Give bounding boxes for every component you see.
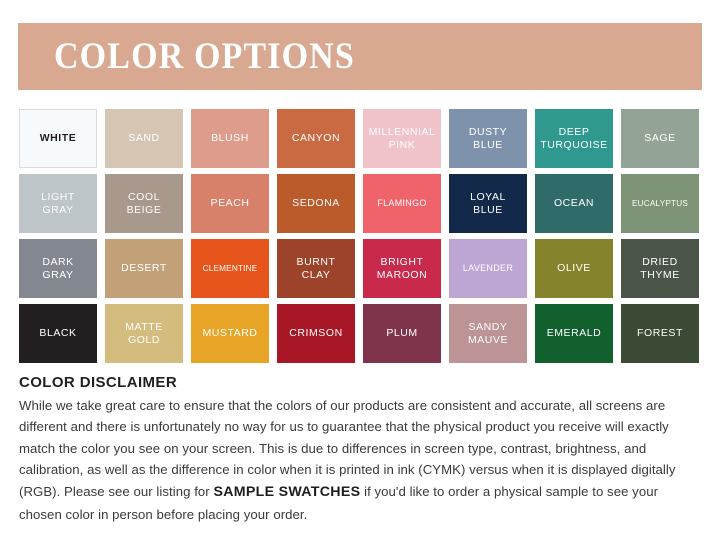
swatch-label: LIGHT GRAY: [38, 191, 78, 216]
swatch-label: FLAMINGO: [374, 198, 429, 209]
color-swatch[interactable]: COOL BEIGE: [105, 174, 183, 233]
color-swatch[interactable]: DESERT: [105, 239, 183, 298]
sample-swatches-emphasis: SAMPLE SWATCHES: [213, 484, 360, 500]
swatch-label: BLUSH: [208, 132, 252, 144]
color-swatch[interactable]: PEACH: [191, 174, 269, 233]
swatch-label: EUCALYPTUS: [629, 199, 691, 209]
color-swatch[interactable]: WHITE: [19, 109, 97, 168]
swatch-label: COOL BEIGE: [124, 191, 165, 216]
swatch-label: OLIVE: [554, 262, 594, 274]
swatch-label: DRIED THYME: [637, 256, 683, 281]
color-swatch[interactable]: BLUSH: [191, 109, 269, 168]
color-swatch[interactable]: EMERALD: [535, 304, 613, 363]
swatch-label: PLUM: [383, 327, 420, 339]
swatch-label: EMERALD: [544, 327, 605, 339]
swatch-label: MATTE GOLD: [122, 321, 166, 346]
color-swatch[interactable]: EUCALYPTUS: [621, 174, 699, 233]
swatch-label: OCEAN: [551, 197, 597, 209]
color-swatch[interactable]: BURNT CLAY: [277, 239, 355, 298]
swatch-label: BLACK: [36, 327, 79, 339]
swatch-label: BURNT CLAY: [294, 256, 339, 281]
color-swatch[interactable]: CLEMENTINE: [191, 239, 269, 298]
swatch-label: CANYON: [289, 132, 343, 144]
color-swatch[interactable]: LOYAL BLUE: [449, 174, 527, 233]
color-swatch[interactable]: BLACK: [19, 304, 97, 363]
color-disclaimer-section: COLOR DISCLAIMER While we take great car…: [19, 374, 703, 525]
color-swatch[interactable]: DEEP TURQUOISE: [535, 109, 613, 168]
color-swatch[interactable]: FOREST: [621, 304, 699, 363]
swatch-label: MILLENNIAL PINK: [366, 126, 439, 151]
swatch-label: DUSTY BLUE: [466, 126, 510, 151]
color-swatch[interactable]: SEDONA: [277, 174, 355, 233]
header-banner: COLOR OPTIONS: [18, 23, 702, 90]
swatch-label: LAVENDER: [460, 263, 516, 274]
swatch-label: LOYAL BLUE: [467, 191, 509, 216]
color-swatch[interactable]: CANYON: [277, 109, 355, 168]
swatch-label: SAGE: [641, 132, 678, 144]
swatch-label: CRIMSON: [286, 327, 345, 339]
color-swatch[interactable]: MUSTARD: [191, 304, 269, 363]
color-swatch[interactable]: SAND: [105, 109, 183, 168]
color-swatch[interactable]: PLUM: [363, 304, 441, 363]
swatch-row: BLACKMATTE GOLDMUSTARDCRIMSONPLUMSANDY M…: [19, 304, 701, 363]
swatch-label: MUSTARD: [200, 327, 261, 339]
color-swatch[interactable]: CRIMSON: [277, 304, 355, 363]
color-swatch[interactable]: MILLENNIAL PINK: [363, 109, 441, 168]
color-swatch[interactable]: FLAMINGO: [363, 174, 441, 233]
swatch-row: DARK GRAYDESERTCLEMENTINEBURNT CLAYBRIGH…: [19, 239, 701, 298]
swatch-label: DESERT: [118, 262, 170, 274]
swatch-label: CLEMENTINE: [200, 264, 261, 274]
disclaimer-body: While we take great care to ensure that …: [19, 395, 703, 525]
color-swatch[interactable]: BRIGHT MAROON: [363, 239, 441, 298]
color-swatch[interactable]: MATTE GOLD: [105, 304, 183, 363]
swatch-label: SAND: [125, 132, 162, 144]
color-options-page: COLOR OPTIONS WHITESANDBLUSHCANYONMILLEN…: [0, 0, 720, 540]
swatch-label: DARK GRAY: [39, 256, 76, 281]
color-swatch[interactable]: DARK GRAY: [19, 239, 97, 298]
swatch-grid: WHITESANDBLUSHCANYONMILLENNIAL PINKDUSTY…: [19, 109, 701, 363]
color-swatch[interactable]: SAGE: [621, 109, 699, 168]
color-swatch[interactable]: DUSTY BLUE: [449, 109, 527, 168]
swatch-label: SEDONA: [289, 197, 343, 209]
swatch-row: WHITESANDBLUSHCANYONMILLENNIAL PINKDUSTY…: [19, 109, 701, 168]
swatch-label: DEEP TURQUOISE: [537, 126, 610, 151]
swatch-label: BRIGHT MAROON: [374, 256, 431, 281]
color-swatch[interactable]: LAVENDER: [449, 239, 527, 298]
swatch-label: FOREST: [634, 327, 686, 339]
page-title: COLOR OPTIONS: [54, 38, 355, 75]
color-swatch[interactable]: SANDY MAUVE: [449, 304, 527, 363]
color-swatch[interactable]: LIGHT GRAY: [19, 174, 97, 233]
swatch-row: LIGHT GRAYCOOL BEIGEPEACHSEDONAFLAMINGOL…: [19, 174, 701, 233]
swatch-label: PEACH: [208, 197, 253, 209]
color-swatch[interactable]: OCEAN: [535, 174, 613, 233]
disclaimer-heading: COLOR DISCLAIMER: [19, 374, 703, 391]
color-swatch[interactable]: DRIED THYME: [621, 239, 699, 298]
swatch-label: WHITE: [37, 132, 80, 144]
color-swatch[interactable]: OLIVE: [535, 239, 613, 298]
swatch-label: SANDY MAUVE: [465, 321, 511, 346]
